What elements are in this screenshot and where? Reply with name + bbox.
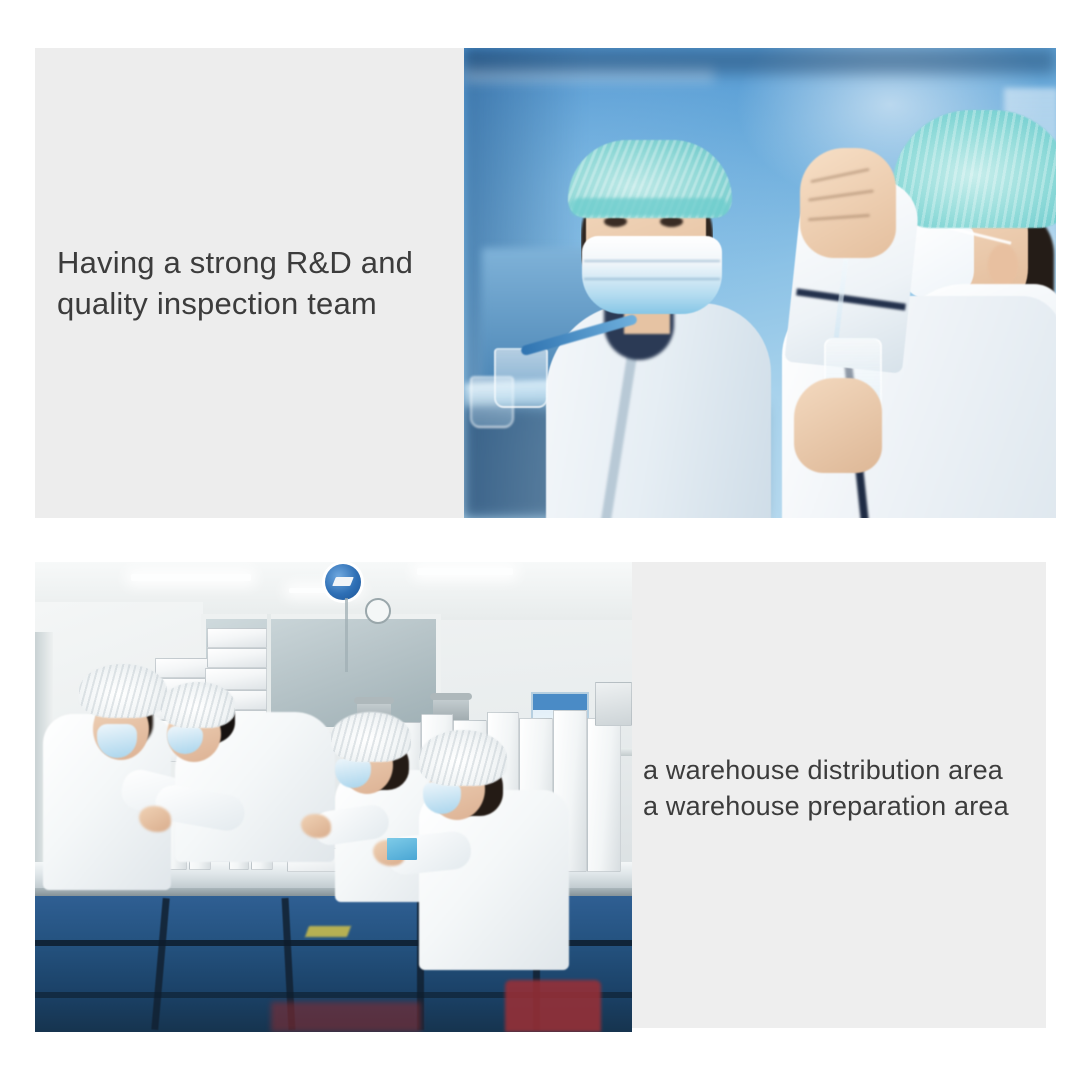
carton-stack-item bbox=[595, 682, 632, 726]
warehouse-packing-photo bbox=[35, 562, 632, 1032]
warehouse-worker-hairnet-texture bbox=[419, 730, 507, 786]
blue-packaging-item bbox=[387, 838, 417, 860]
carton-stack-item bbox=[207, 628, 267, 648]
wall-clock-icon bbox=[365, 598, 391, 624]
wall-notice-board-right-header bbox=[533, 694, 587, 710]
technician-center-hand-upper bbox=[800, 148, 896, 258]
mask-fold-2 bbox=[584, 278, 720, 280]
hanging-cord bbox=[345, 598, 348, 672]
ceiling-blue-sign-icon bbox=[325, 564, 361, 600]
ceiling-light-1 bbox=[131, 574, 251, 581]
warehouse-worker-hand bbox=[301, 814, 331, 838]
warehouse-worker-hairnet-texture bbox=[161, 682, 235, 728]
page-canvas: Having a strong R&D and quality inspecti… bbox=[0, 0, 1080, 1080]
floor-yellow-marking bbox=[305, 926, 351, 937]
technician-left-cap-band bbox=[570, 198, 728, 216]
top-caption-text: Having a strong R&D and quality inspecti… bbox=[57, 242, 457, 324]
lab-ceiling-band bbox=[464, 48, 1056, 74]
warehouse-worker-hairnet-texture bbox=[331, 712, 411, 762]
technician-right-ear bbox=[988, 244, 1018, 286]
technician-left-face-mask bbox=[582, 236, 722, 314]
ceiling-light-2 bbox=[417, 568, 513, 575]
carton-stack-item bbox=[207, 648, 267, 668]
lab-beaker-primary bbox=[494, 348, 548, 408]
worker-red-garment bbox=[505, 980, 601, 1032]
lab-quality-inspection-photo bbox=[464, 48, 1056, 518]
carton-stack-item bbox=[587, 718, 621, 872]
warehouse-worker-hairnet-texture bbox=[79, 664, 167, 718]
mask-fold-1 bbox=[584, 260, 720, 262]
bottom-caption-text: a warehouse distribution area a warehous… bbox=[643, 752, 1043, 824]
floor-red-object bbox=[271, 1002, 421, 1032]
warehouse-worker-coat bbox=[419, 790, 569, 970]
technician-center-hand-lower bbox=[794, 378, 882, 473]
